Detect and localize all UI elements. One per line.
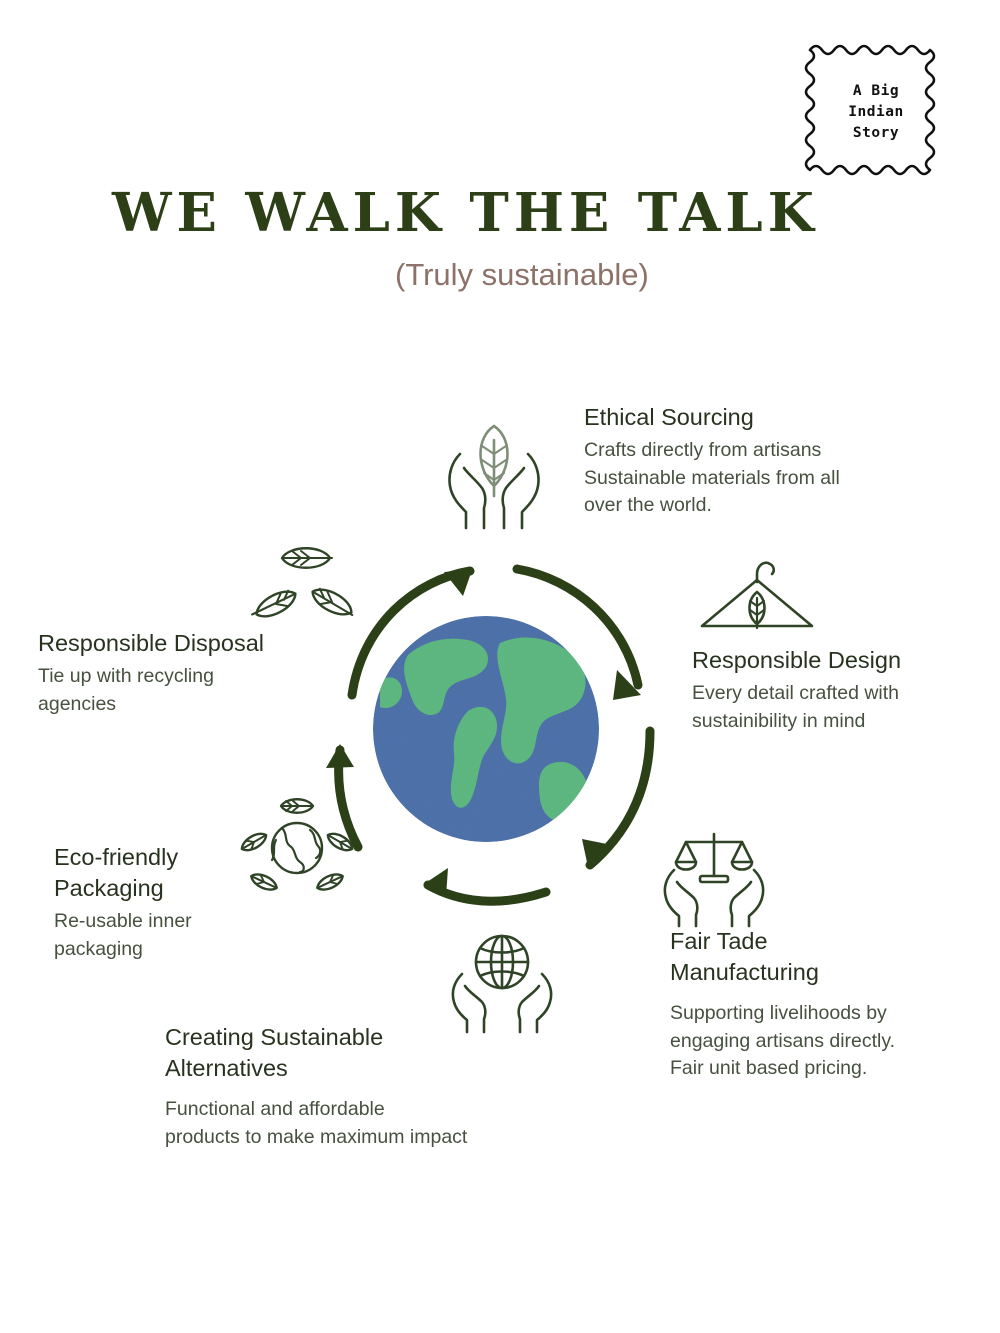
body-line: agencies [38,693,116,715]
body-line: Sustainable materials from all [584,467,840,489]
step-ethical-sourcing: Ethical Sourcing Crafts directly from ar… [584,402,944,520]
body-line: Tie up with recycling [38,665,214,687]
step-title: Creating Sustainable Alternatives [165,1022,565,1084]
page-subtitle: (Truly sustainable) [395,257,649,293]
title-line: Manufacturing [670,959,819,985]
step-body: Crafts directly from artisans Sustainabl… [584,437,944,520]
hands-holding-leaf-icon [438,410,550,530]
title-line: Fair Tade [670,928,768,954]
step-title: Responsible Disposal [38,628,328,659]
brand-stamp-logo: A Big Indian Story [802,38,950,186]
stamp-line-2: Indian [848,103,903,121]
step-title: Eco-friendly Packaging [54,842,289,904]
step-fair-trade-manufacturing: Fair Tade Manufacturing Supporting livel… [670,926,970,1083]
title-line: Eco-friendly [54,844,178,870]
body-line: Fair unit based pricing. [670,1057,867,1079]
title-line: Alternatives [165,1055,288,1081]
body-line: over the world. [584,494,712,516]
step-title: Fair Tade Manufacturing [670,926,970,988]
stamp-line-3: Story [853,124,899,142]
body-line: Every detail crafted with [692,682,899,704]
body-line: Supporting livelihoods by [670,1002,887,1024]
body-line: engaging artisans directly. [670,1030,895,1052]
stamp-text-block: A Big Indian Story [802,38,950,186]
title-line: Creating Sustainable [165,1024,383,1050]
step-body: Every detail crafted with sustainibility… [692,680,982,735]
body-line: packaging [54,938,143,960]
step-body: Tie up with recycling agencies [38,663,328,718]
title-line: Packaging [54,875,164,901]
step-body: Supporting livelihoods by engaging artis… [670,1000,970,1083]
page-title: WE WALK THE TALK [112,182,819,244]
step-creating-sustainable-alternatives: Creating Sustainable Alternatives Functi… [165,1022,565,1151]
stamp-line-1: A Big [853,82,899,100]
body-line: products to make maximum impact [165,1126,467,1148]
body-line: sustainibility in mind [692,710,865,732]
step-title: Ethical Sourcing [584,402,944,433]
hanger-with-leaf-icon [694,552,820,636]
three-leaves-icon [248,538,364,630]
body-line: Crafts directly from artisans [584,439,821,461]
step-eco-friendly-packaging: Eco-friendly Packaging Re-usable inner p… [54,842,289,963]
step-responsible-disposal: Responsible Disposal Tie up with recycli… [38,628,328,718]
body-line: Re-usable inner [54,910,192,932]
hands-holding-globe-icon [446,930,558,1032]
earth-globe-watercolor [372,615,600,843]
step-responsible-design: Responsible Design Every detail crafted … [692,645,982,735]
hands-holding-scales-icon [658,826,770,926]
body-line: Functional and affordable [165,1098,385,1120]
step-body: Re-usable inner packaging [54,908,289,963]
step-body: Functional and affordable products to ma… [165,1096,565,1151]
step-title: Responsible Design [692,645,982,676]
